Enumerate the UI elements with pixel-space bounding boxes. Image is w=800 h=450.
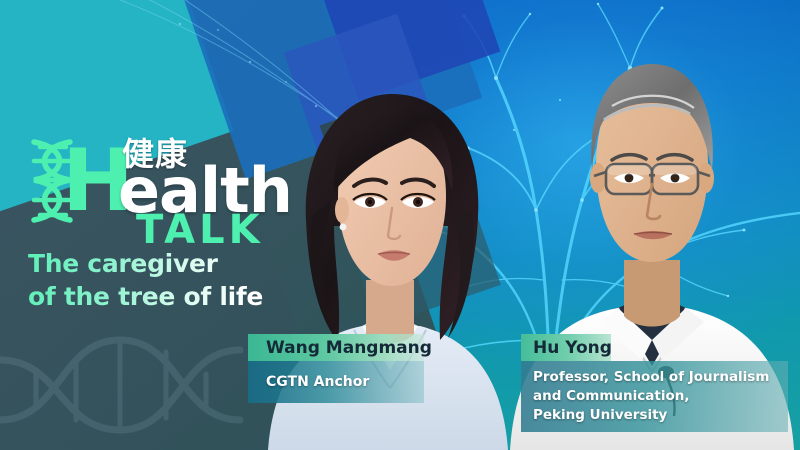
nameplate-anchor-name-bar: Wang Mangmang — [248, 334, 424, 361]
nameplate-anchor-title-bar: CGTN Anchor — [248, 361, 424, 403]
episode-tagline: The caregiver of the tree of life — [28, 247, 278, 313]
dna-watermark-icon — [0, 300, 290, 450]
nameplate-guest-name: Hu Yong — [521, 338, 612, 358]
logo-word-talk: TALK — [136, 210, 264, 250]
nameplate-anchor-name: Wang Mangmang — [248, 338, 432, 358]
nameplate-guest-title: Professor, School of Journalism and Comm… — [533, 368, 788, 425]
broadcast-lower-third-frame: H 健康 ealth TALK The caregiver of the tre… — [0, 0, 800, 450]
nameplate-anchor-title: CGTN Anchor — [248, 374, 369, 390]
nameplate-guest-name-bar: Hu Yong — [521, 334, 611, 361]
nameplate-guest: Hu Yong Professor, School of Journalism … — [521, 334, 788, 432]
program-logo: H 健康 ealth TALK — [26, 132, 276, 228]
nameplate-guest-title-bar: Professor, School of Journalism and Comm… — [521, 361, 788, 432]
nameplate-anchor: Wang Mangmang CGTN Anchor — [248, 334, 424, 403]
